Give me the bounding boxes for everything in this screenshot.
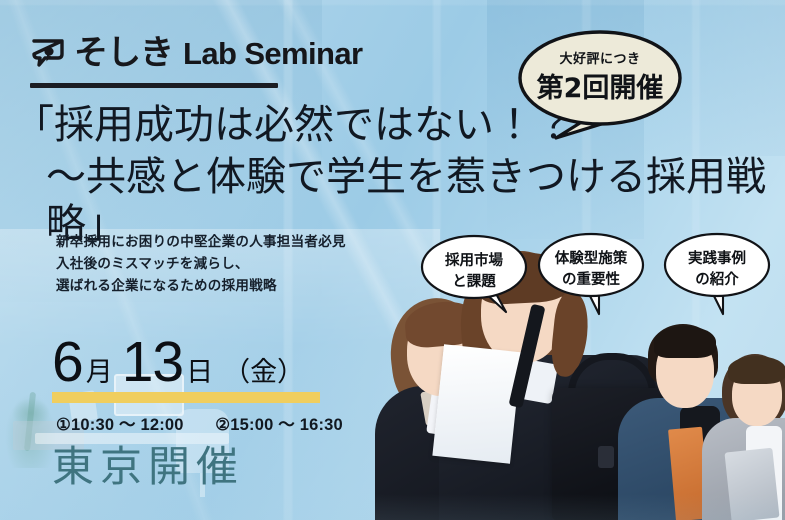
session-1-time: ①10:30 〜 12:00 (56, 416, 184, 434)
event-date-block: 6 月 13 日 （金） (52, 334, 304, 391)
lead-paragraph: 新卒採用にお困りの中堅企業の人事担当者必見 入社後のミスマッチを減らし、 選ばれ… (56, 232, 346, 298)
event-month-unit: 月 (86, 359, 113, 386)
event-day-number: 13 (122, 334, 183, 391)
speech-bubble-icon (30, 38, 66, 68)
date-highlight-bar (52, 392, 320, 403)
foreground-content: そしき Lab Seminar 「採用成功は必然ではない！？ 〜共感と体験で学生… (0, 0, 785, 520)
logo-text-jp: そしき (74, 36, 173, 70)
event-day-of-week: （金） (223, 359, 304, 386)
second-edition-badge: 大好評につき 第2回開催 (516, 22, 684, 152)
event-month-number: 6 (52, 334, 83, 391)
topic-bubble-3: 実践事例 の紹介 (663, 232, 771, 316)
topic-bubble-2: 体験型施策 の重要性 (537, 232, 645, 316)
logo-underline-rule (30, 83, 278, 88)
lead-line-3: 選ばれる企業になるための採用戦略 (56, 276, 346, 298)
brand-logo: そしき Lab Seminar (30, 36, 362, 70)
session-2-time: ②15:00 〜 16:30 (215, 416, 343, 434)
lead-line-1: 新卒採用にお困りの中堅企業の人事担当者必見 (56, 232, 346, 254)
event-day-unit: 日 (186, 359, 213, 386)
event-session-times: ①10:30 〜 12:00 ②15:00 〜 16:30 (56, 411, 343, 435)
event-city: 東京開催 (52, 442, 244, 492)
seminar-banner: そしき Lab Seminar 「採用成功は必然ではない！？ 〜共感と体験で学生… (0, 0, 785, 520)
logo-text-en: Lab Seminar (183, 38, 362, 69)
lead-line-2: 入社後のミスマッチを減らし、 (56, 254, 346, 276)
topic-bubble-1: 採用市場 と課題 (420, 234, 528, 318)
